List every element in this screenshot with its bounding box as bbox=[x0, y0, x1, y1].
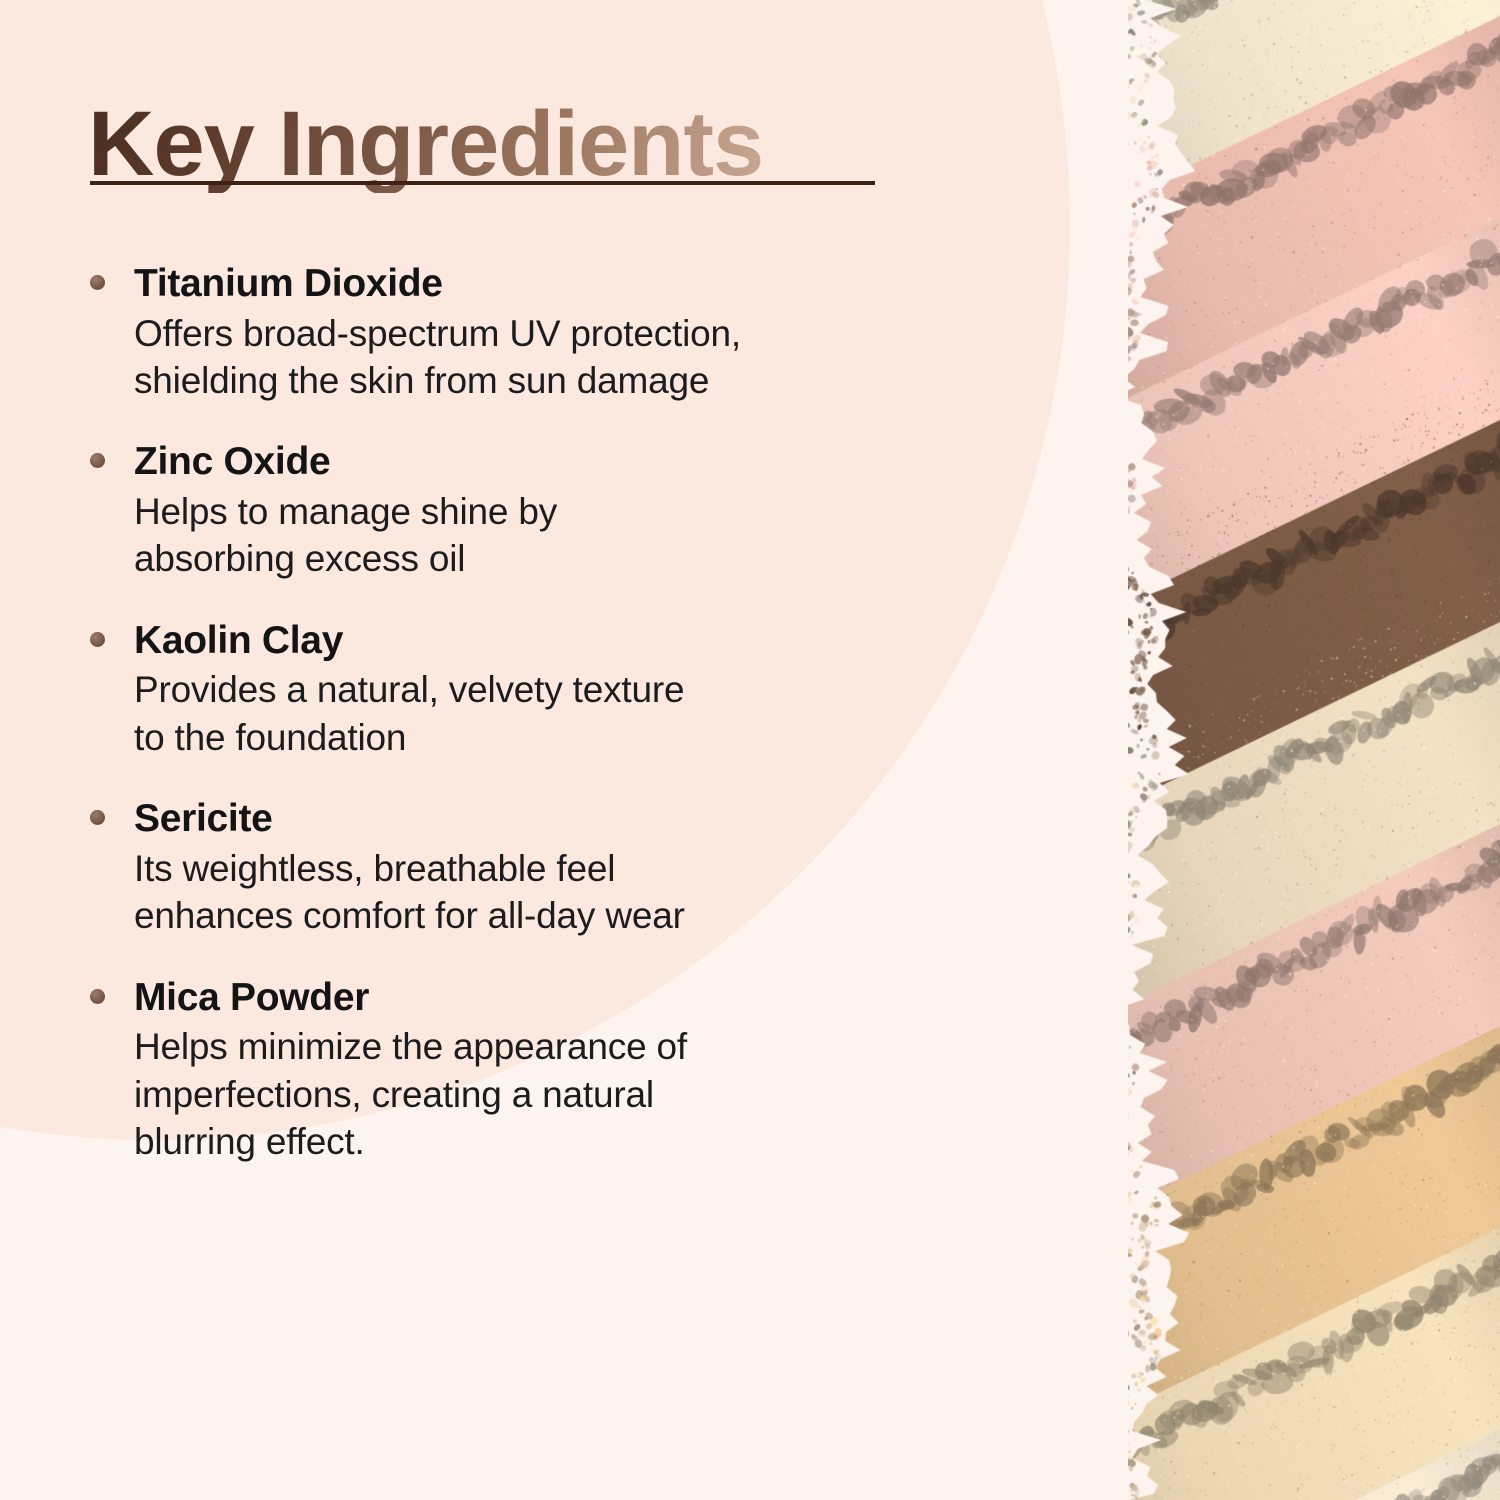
description-line: blurring effect. bbox=[134, 1118, 988, 1165]
description-line: Helps minimize the appearance of bbox=[134, 1023, 988, 1070]
content-column: Key Ingredients Titanium Dioxide Offers … bbox=[0, 0, 1080, 1500]
bullet-dot-icon bbox=[90, 810, 105, 825]
ingredient-name: Mica Powder bbox=[134, 976, 988, 1020]
powder-swatch-canvas bbox=[1128, 0, 1500, 1500]
description-line: enhances comfort for all-day wear bbox=[134, 892, 988, 939]
ingredient-name: Titanium Dioxide bbox=[134, 262, 988, 306]
ingredient-name: Kaolin Clay bbox=[134, 619, 988, 663]
list-item: Sericite Its weightless, breathable feel… bbox=[88, 797, 988, 939]
infographic-root: Key Ingredients Titanium Dioxide Offers … bbox=[0, 0, 1500, 1500]
list-item: Zinc Oxide Helps to manage shine by abso… bbox=[88, 440, 988, 582]
list-item: Kaolin Clay Provides a natural, velvety … bbox=[88, 619, 988, 761]
list-item: Titanium Dioxide Offers broad-spectrum U… bbox=[88, 262, 988, 404]
ingredient-description: Its weightless, breathable feel enhances… bbox=[134, 845, 988, 940]
page-title: Key Ingredients bbox=[88, 96, 763, 193]
description-line: Offers broad-spectrum UV protection, bbox=[134, 310, 988, 357]
description-line: absorbing excess oil bbox=[134, 535, 988, 582]
bullet-dot-icon bbox=[90, 275, 105, 290]
ingredient-description: Offers broad-spectrum UV protection, shi… bbox=[134, 310, 988, 405]
title-underline bbox=[90, 181, 875, 185]
ingredient-description: Helps minimize the appearance of imperfe… bbox=[134, 1023, 988, 1165]
description-line: imperfections, creating a natural bbox=[134, 1071, 988, 1118]
description-line: Provides a natural, velvety texture bbox=[134, 666, 988, 713]
description-line: Its weightless, breathable feel bbox=[134, 845, 988, 892]
ingredient-description: Helps to manage shine by absorbing exces… bbox=[134, 488, 988, 583]
description-line: shielding the skin from sun damage bbox=[134, 357, 988, 404]
list-item: Mica Powder Helps minimize the appearanc… bbox=[88, 976, 988, 1166]
ingredient-name: Zinc Oxide bbox=[134, 440, 988, 484]
description-line: Helps to manage shine by bbox=[134, 488, 988, 535]
ingredient-description: Provides a natural, velvety texture to t… bbox=[134, 666, 988, 761]
bullet-dot-icon bbox=[90, 632, 105, 647]
description-line: to the foundation bbox=[134, 714, 988, 761]
bullet-dot-icon bbox=[90, 453, 105, 468]
bullet-dot-icon bbox=[90, 989, 105, 1004]
ingredient-name: Sericite bbox=[134, 797, 988, 841]
page-title-wrap: Key Ingredients bbox=[88, 96, 908, 193]
ingredient-list: Titanium Dioxide Offers broad-spectrum U… bbox=[88, 262, 988, 1165]
powder-swatch-image bbox=[1128, 0, 1500, 1500]
